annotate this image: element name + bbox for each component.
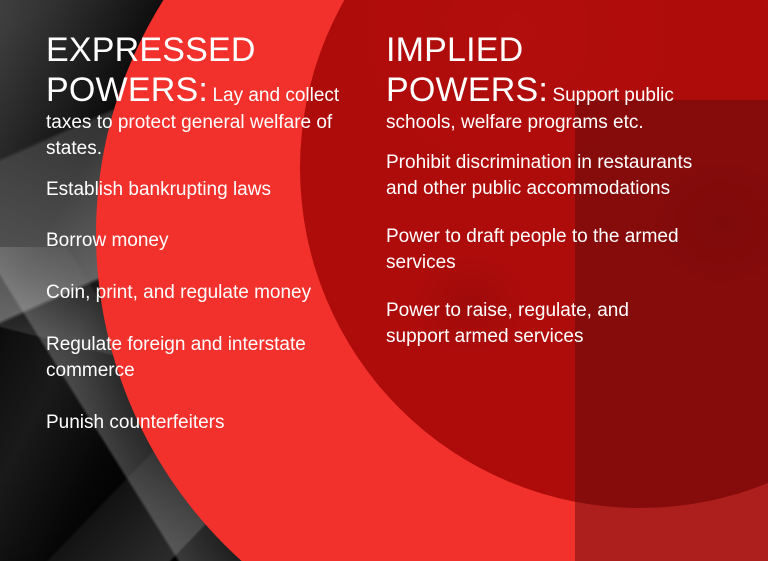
list-item: Establish bankrupting laws <box>46 177 346 203</box>
list-item: Borrow money <box>46 228 346 254</box>
list-item: Power to draft people to the armed servi… <box>386 224 694 276</box>
column-expressed-powers: EXPRESSED POWERS: Lay and collect taxes … <box>46 30 346 561</box>
implied-powers-heading: IMPLIED POWERS: <box>386 31 548 109</box>
content-columns: EXPRESSED POWERS: Lay and collect taxes … <box>0 0 768 561</box>
implied-powers-heading-block: IMPLIED POWERS: Support public schools, … <box>386 30 694 136</box>
list-item: Power to raise, regulate, and support ar… <box>386 298 694 350</box>
list-item: Punish counterfeiters <box>46 410 346 436</box>
expressed-powers-heading-block: EXPRESSED POWERS: Lay and collect taxes … <box>46 30 346 163</box>
list-item: Coin, print, and regulate money <box>46 280 346 306</box>
list-item: Prohibit discrimination in restaurants a… <box>386 150 694 202</box>
column-implied-powers: IMPLIED POWERS: Support public schools, … <box>386 30 694 561</box>
list-item: Regulate foreign and interstate commerce <box>46 332 346 384</box>
slide-canvas: EXPRESSED POWERS: Lay and collect taxes … <box>0 0 768 561</box>
